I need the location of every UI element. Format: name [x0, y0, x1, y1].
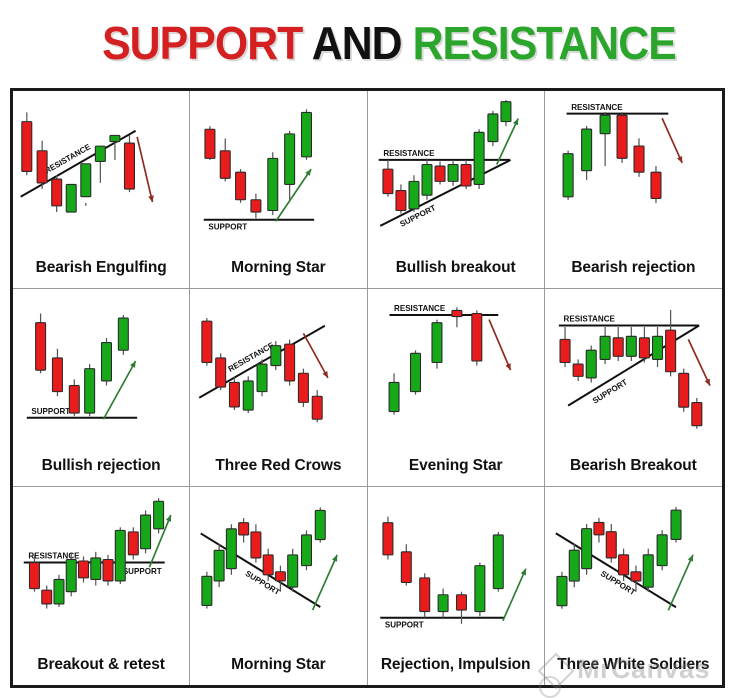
pattern-cell[interactable]: RESISTANCEThree Red Crows	[190, 289, 367, 487]
candle	[382, 169, 392, 194]
candle	[257, 364, 267, 392]
pattern-cell[interactable]: SUPPORTMorning Star	[190, 91, 367, 289]
candle	[230, 382, 240, 407]
candle	[435, 166, 445, 181]
candle	[128, 532, 138, 555]
pattern-label: Bullish rejection	[13, 446, 189, 486]
pattern-chart: RESISTANCE	[545, 91, 722, 248]
pattern-cell[interactable]: RESISTANCEBearish rejection	[545, 91, 722, 289]
candle	[36, 323, 46, 371]
arrow-down-icon	[662, 118, 682, 163]
pattern-chart: RESISTANCESUPPORT	[368, 91, 544, 248]
candle	[268, 158, 278, 210]
candle	[569, 550, 579, 581]
candle	[115, 530, 125, 581]
candle	[474, 132, 484, 184]
candle	[408, 181, 418, 209]
candle	[205, 129, 215, 158]
pattern-chart: SUPPORT	[13, 289, 189, 446]
pattern-cell[interactable]: RESISTANCESUPPORTBullish breakout	[368, 91, 545, 289]
line-label: RESISTANCE	[571, 103, 623, 112]
candle	[29, 563, 39, 589]
line-label: SUPPORT	[209, 223, 248, 232]
candle	[617, 115, 627, 158]
candle	[448, 165, 458, 182]
pattern-cell[interactable]: SUPPORTBullish rejection	[13, 289, 190, 487]
pattern-cell[interactable]: SUPPORTRejection, Impulsion	[368, 487, 545, 685]
candle	[678, 373, 688, 407]
candle	[124, 143, 134, 189]
candle	[692, 403, 702, 426]
candle	[91, 558, 101, 579]
pattern-chart: SUPPORT	[190, 91, 366, 248]
candle	[299, 373, 309, 402]
candle	[600, 336, 610, 359]
candle	[613, 338, 623, 356]
candle	[227, 529, 237, 569]
candle	[643, 555, 653, 587]
candle	[389, 382, 399, 411]
candle	[316, 510, 326, 539]
pattern-label: Evening Star	[368, 446, 544, 486]
candle	[236, 172, 246, 200]
pattern-cell[interactable]: RESISTANCEEvening Star	[368, 289, 545, 487]
line-label: RESISTANCE	[563, 315, 615, 324]
candle	[631, 572, 641, 581]
svg-text:SUPPORT: SUPPORT	[591, 378, 629, 406]
candle	[422, 165, 432, 196]
candle	[69, 386, 79, 414]
arrow-down-icon	[137, 137, 154, 202]
title-word-resistance: RESISTANCE	[413, 17, 676, 69]
candle	[302, 535, 312, 566]
candle	[22, 122, 32, 172]
arrow-up-icon	[496, 119, 517, 165]
line-label: SUPPORT	[591, 378, 629, 406]
pattern-cell[interactable]: SUPPORTMorning Star	[190, 487, 367, 685]
pattern-chart: SUPPORT	[545, 487, 722, 645]
candle	[634, 146, 644, 172]
candle	[66, 184, 76, 212]
line-label: SUPPORT	[123, 567, 162, 576]
candle	[487, 114, 497, 142]
candle	[451, 310, 461, 316]
pattern-chart: RESISTANCE	[368, 289, 544, 446]
candle	[563, 154, 573, 197]
candle	[285, 134, 295, 185]
candle	[474, 566, 484, 612]
candle	[263, 555, 273, 575]
candle	[214, 550, 224, 581]
candle	[102, 343, 112, 381]
pattern-label: Bearish rejection	[545, 248, 722, 288]
candle	[118, 318, 128, 350]
candle	[431, 323, 441, 363]
candle	[141, 515, 151, 549]
arrow-down-icon	[688, 339, 710, 385]
arrow-up-icon	[668, 555, 693, 610]
candle	[382, 523, 392, 555]
pattern-chart: SUPPORT	[190, 487, 366, 645]
line-label: RESISTANCE	[383, 149, 435, 158]
candle	[52, 358, 62, 392]
line-label: SUPPORT	[384, 621, 423, 630]
candle	[500, 102, 510, 122]
pattern-label: Three Red Crows	[190, 446, 366, 486]
candle	[302, 112, 312, 156]
pattern-label: Breakout & retest	[13, 645, 189, 685]
candle	[573, 364, 583, 376]
candle	[271, 346, 281, 366]
candle	[606, 532, 616, 558]
candle	[461, 165, 471, 186]
pattern-label: Morning Star	[190, 248, 366, 288]
candle	[276, 572, 286, 581]
candle	[95, 146, 105, 161]
candle	[581, 529, 591, 569]
pattern-cell[interactable]: RESISTANCESUPPORTBearish Breakout	[545, 289, 722, 487]
candle	[594, 522, 604, 534]
candle	[401, 552, 411, 583]
title-word-and: AND	[312, 17, 413, 69]
candle	[560, 339, 570, 362]
candle	[81, 164, 91, 197]
candle	[239, 523, 249, 535]
pattern-label: Bearish Engulfing	[13, 248, 189, 288]
pattern-chart: RESISTANCESUPPORT	[13, 487, 189, 645]
candle	[202, 321, 212, 362]
candle	[251, 200, 261, 212]
pattern-cell[interactable]: SUPPORTThree White Soldiers	[545, 487, 722, 685]
candle	[557, 576, 567, 605]
candle	[202, 576, 212, 605]
candle	[657, 535, 667, 566]
candle	[493, 535, 503, 589]
candle	[110, 135, 120, 141]
arrow-up-icon	[502, 569, 525, 621]
pattern-cell[interactable]: RESISTANCEBearish Engulfing	[13, 91, 190, 289]
pattern-chart: RESISTANCE	[190, 289, 366, 446]
candle	[288, 555, 298, 587]
pattern-grid: RESISTANCEBearish EngulfingSUPPORTMornin…	[13, 91, 722, 685]
candle	[626, 336, 636, 356]
candle	[221, 151, 231, 179]
candle	[639, 338, 649, 358]
candle	[471, 313, 481, 361]
candle	[154, 501, 164, 529]
candle	[395, 191, 405, 211]
arrow-down-icon	[489, 320, 511, 371]
pattern-label: Bullish breakout	[368, 248, 544, 288]
candle	[586, 350, 596, 378]
candle	[456, 595, 466, 610]
pattern-chart: RESISTANCESUPPORT	[545, 289, 722, 446]
arrow-up-icon	[313, 555, 338, 610]
candle	[52, 179, 62, 206]
candle	[244, 381, 254, 410]
candle	[581, 129, 591, 171]
pattern-cell[interactable]: RESISTANCESUPPORTBreakout & retest	[13, 487, 190, 685]
candle	[438, 595, 448, 612]
page-title: SUPPORT AND RESISTANCE	[0, 0, 735, 86]
pattern-grid-frame: RESISTANCEBearish EngulfingSUPPORTMornin…	[10, 88, 725, 688]
pattern-chart: RESISTANCE	[13, 91, 189, 248]
candle	[665, 330, 675, 372]
candle	[216, 358, 226, 387]
candle	[618, 555, 628, 575]
candle	[66, 559, 76, 591]
candle	[285, 344, 295, 381]
pattern-chart: SUPPORT	[368, 487, 544, 645]
candle	[42, 590, 52, 604]
candle	[37, 151, 47, 183]
line-label: SUPPORT	[31, 407, 70, 416]
pattern-label: Three White Soldiers	[545, 645, 722, 685]
candle	[54, 579, 64, 604]
pattern-label: Morning Star	[190, 645, 366, 685]
candle	[410, 353, 420, 391]
candle	[600, 115, 610, 133]
candle	[85, 369, 95, 413]
candle	[79, 561, 89, 578]
candle	[251, 532, 261, 558]
line-label: RESISTANCE	[394, 304, 446, 313]
title-word-support: SUPPORT	[103, 17, 313, 69]
pattern-label: Rejection, Impulsion	[368, 645, 544, 685]
candle	[652, 336, 662, 359]
arrow-down-icon	[304, 333, 329, 377]
pattern-label: Bearish Breakout	[545, 446, 722, 486]
candle	[103, 559, 113, 580]
candle	[312, 396, 322, 419]
candle	[419, 578, 429, 612]
candle	[671, 510, 681, 539]
candle	[651, 172, 661, 198]
